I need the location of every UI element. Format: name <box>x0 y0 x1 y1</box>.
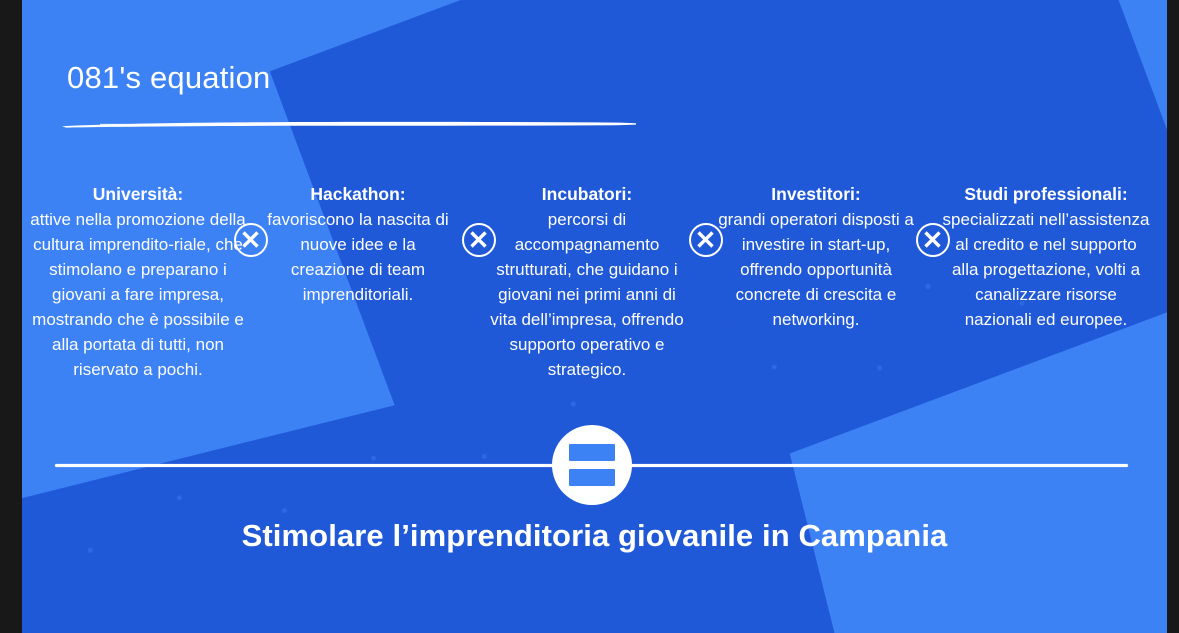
term-title: Studi professionali: <box>940 182 1152 207</box>
title-underline-brush <box>60 120 638 129</box>
term-body: percorsi di accompagnamento strutturati,… <box>484 208 690 383</box>
right-edge-bar <box>1167 0 1179 633</box>
term-title: Hackathon: <box>264 182 452 207</box>
multiply-circle-icon <box>462 223 496 257</box>
term-body: attive nella promozione della cultura im… <box>28 208 248 383</box>
multiply-circle-icon <box>916 223 950 257</box>
slide-canvas: 081's equation Università: attive nella … <box>22 0 1167 633</box>
slide-title: 081's equation <box>67 60 271 96</box>
term-investitori: Investitori: grandi operatori disposti a… <box>716 182 916 333</box>
term-title: Investitori: <box>716 182 916 207</box>
equals-bar-bottom <box>569 469 615 486</box>
multiply-circle-icon <box>689 223 723 257</box>
equals-circle-icon <box>552 425 632 505</box>
term-hackathon: Hackathon: favoriscono la nascita di nuo… <box>264 182 452 308</box>
slide-root: 081's equation Università: attive nella … <box>0 0 1179 633</box>
term-body: grandi operatori disposti a investire in… <box>716 208 916 333</box>
term-universita: Università: attive nella promozione dell… <box>28 182 248 383</box>
left-edge-bar <box>0 0 22 633</box>
term-title: Università: <box>28 182 248 207</box>
term-studi-professionali: Studi professionali: specializzati nell’… <box>940 182 1152 333</box>
slide-conclusion: Stimolare l’imprenditoria giovanile in C… <box>22 518 1167 554</box>
multiply-circle-icon <box>234 223 268 257</box>
term-incubatori: Incubatori: percorsi di accompagnamento … <box>484 182 690 383</box>
term-body: specializzati nell’assistenza al credito… <box>940 208 1152 333</box>
term-title: Incubatori: <box>484 182 690 207</box>
term-body: favoriscono la nascita di nuove idee e l… <box>264 208 452 308</box>
equals-bar-top <box>569 444 615 461</box>
